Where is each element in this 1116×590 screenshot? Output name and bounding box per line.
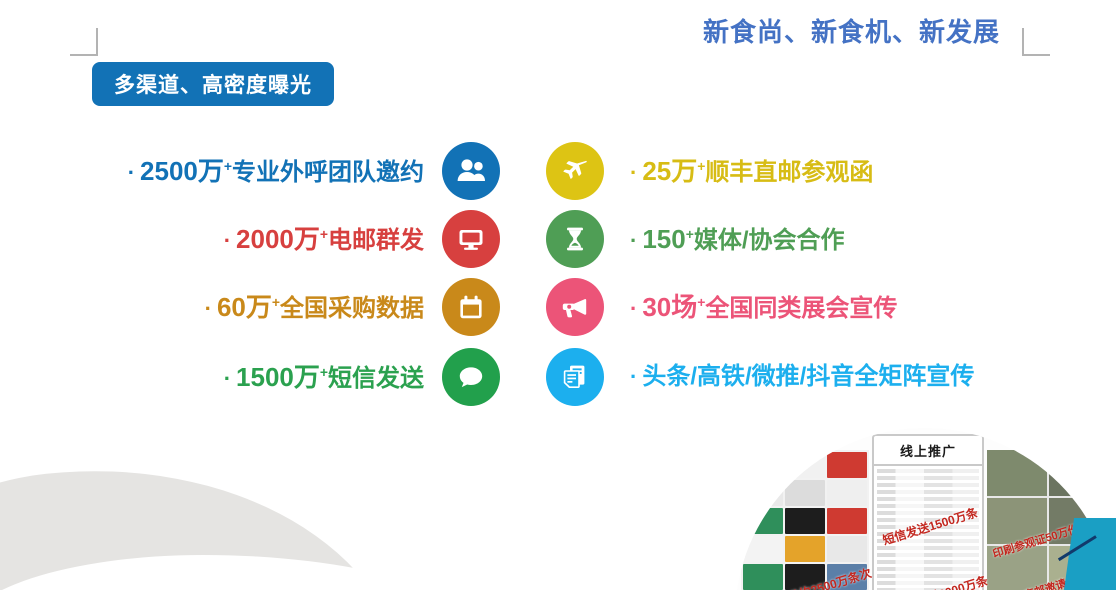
bullet-dot: · [630,364,637,389]
stat-text: 媒体/协会合作 [694,227,845,254]
promotion-photo-collage: 线上推广 短信发送1500万条 电话 [735,428,1115,590]
collage-photo-exhibition-materials [987,450,1109,590]
stat-number: 1500万 [236,362,320,392]
stat-plus: + [224,158,232,174]
stat-number: 2500万 [140,156,224,186]
collage-caption-directmail: 顺丰直邮邀请函25万封 [1001,562,1112,590]
bullet-dot: · [630,160,637,185]
decor-wedge [1064,518,1116,590]
stat-item-expo-promotion[interactable]: ·30场+全国同类展会宣传 [546,276,897,338]
stat-text: 全国采购数据 [280,295,424,322]
corner-bracket-top-left [70,28,98,56]
megaphone-icon [546,278,604,336]
stat-item-email-blast[interactable]: ·2000万+电邮群发 [224,208,500,270]
collage-board-online-promotion: 线上推广 [872,434,984,590]
collage-board-title: 线上推广 [874,436,982,466]
section-title-label: 多渠道、高密度曝光 [114,69,312,99]
bullet-dot: · [205,296,212,321]
collage-caption-badges: 印刷参观证50万份 [991,520,1081,561]
section-title-badge: 多渠道、高密度曝光 [92,62,334,106]
people-icon [442,142,500,200]
decor-swoosh [0,438,414,590]
collage-caption-sms: 短信发送1500万条 [881,504,980,549]
stat-item-media-association[interactable]: ·150+媒体/协会合作 [546,208,845,270]
stat-item-sms-send[interactable]: ·1500万+短信发送 [224,346,500,408]
decor-swoosh-highlight [0,555,480,590]
bullet-dot: · [224,366,231,391]
hourglass-icon [546,210,604,268]
collage-photo-online-screenshots [741,450,869,590]
collage-caption-calls: 电话邀约2500万条次 [763,564,874,590]
bullet-dot: · [630,296,637,321]
stat-item-purchase-data[interactable]: ·60万+全国采购数据 [205,276,500,338]
stat-label: ·1500万+短信发送 [224,364,424,391]
stat-number: 150 [642,224,685,254]
stat-number: 2000万 [236,224,320,254]
corner-bracket-top-right [1022,28,1050,56]
bullet-dot: · [128,160,135,185]
bullet-dot: · [224,228,231,253]
stat-plus: + [320,226,328,242]
stat-text: 专业外呼团队邀约 [232,159,424,186]
stat-label: ·150+媒体/协会合作 [630,226,845,253]
stat-text: 头条/高铁/微推/抖音全矩阵宣传 [642,363,974,390]
monitor-icon [442,210,500,268]
stat-text: 短信发送 [328,365,424,392]
airplane-icon [546,142,604,200]
stat-item-full-matrix-promotion[interactable]: ·头条/高铁/微推/抖音全矩阵宣传 [546,346,974,408]
chat-bubble-icon [442,348,500,406]
stat-label: ·头条/高铁/微推/抖音全矩阵宣传 [630,365,974,389]
stat-item-outbound-calls[interactable]: ·2500万+专业外呼团队邀约 [128,140,500,202]
header-slogan: 新食尚、新食机、新发展 [703,12,1000,49]
collage-caption-email: 邮件发送2000万条 [891,572,990,590]
collage-board-table [874,466,982,590]
stat-label: ·2500万+专业外呼团队邀约 [128,158,424,185]
stat-label: ·60万+全国采购数据 [205,294,424,321]
bullet-dot: · [630,228,637,253]
stat-text: 电邮群发 [328,227,424,254]
collage-arch-mask: 线上推广 短信发送1500万条 电话 [735,428,1115,590]
stat-number: 60万 [217,292,272,322]
decor-wedge-line [1058,535,1097,561]
stat-item-sf-direct-mail[interactable]: ·25万+顺丰直邮参观函 [546,140,873,202]
stat-label: ·25万+顺丰直邮参观函 [630,158,873,185]
stat-plus: + [320,364,328,380]
stat-text: 顺丰直邮参观函 [705,159,873,186]
stat-number: 30场 [642,292,697,322]
stat-plus: + [272,294,280,310]
stat-text: 全国同类展会宣传 [705,295,897,322]
stat-plus: + [686,226,694,242]
stat-label: ·2000万+电邮群发 [224,226,424,253]
calendar-icon [442,278,500,336]
slide-canvas: 新食尚、新食机、新发展 多渠道、高密度曝光 ·2500万+专业外呼团队邀约 [0,0,1116,590]
documents-icon [546,348,604,406]
stat-number: 25万 [642,156,697,186]
stat-label: ·30场+全国同类展会宣传 [630,294,897,321]
